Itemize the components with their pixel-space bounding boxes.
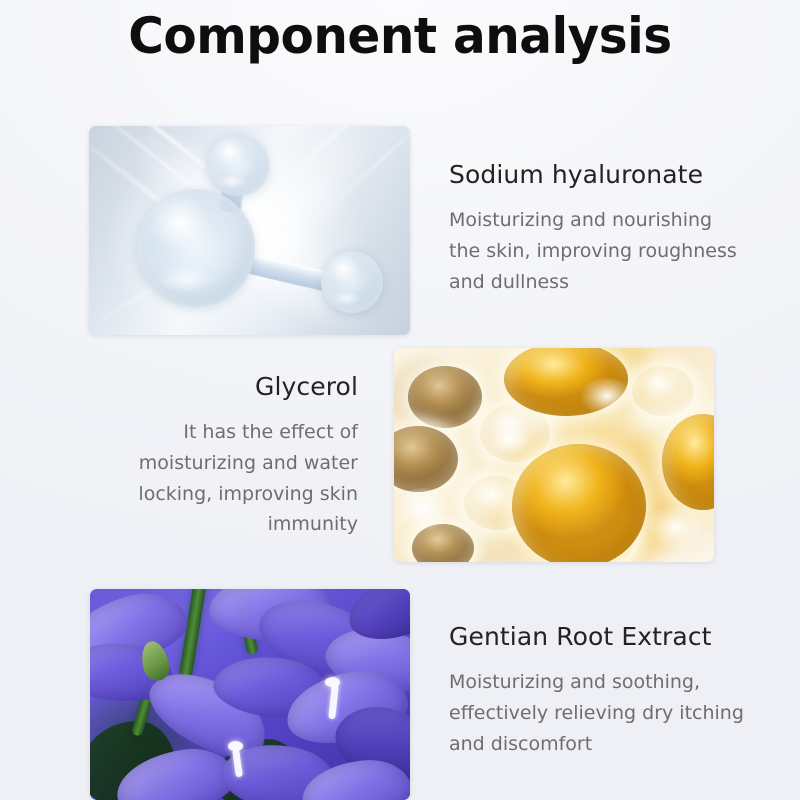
gentian-flowers-photo-canvas [90, 589, 410, 800]
foam-highlight [580, 378, 634, 418]
ingredient-name-glycerol: Glycerol [118, 372, 358, 401]
oil-bubble [632, 366, 694, 416]
ingredient-text-gentian-root-extract: Gentian Root Extract Moisturizing and so… [449, 622, 749, 759]
component-analysis-page: Component analysis Sodium hyaluronate Mo… [0, 0, 800, 800]
ingredient-name-sodium-hyaluronate: Sodium hyaluronate [449, 160, 749, 189]
foam-highlight [490, 426, 530, 456]
oil-droplets-photo-canvas [394, 348, 714, 562]
flower-pistil-head [228, 741, 243, 751]
ingredient-description-gentian-root-extract: Moisturizing and soothing, effectively r… [449, 667, 749, 759]
ingredient-description-glycerol: It has the effect of moisturizing and wa… [118, 417, 358, 540]
ingredient-name-gentian-root-extract: Gentian Root Extract [449, 622, 749, 651]
oil-bubble [408, 366, 482, 428]
oil-bubble-amber-main [512, 444, 646, 562]
golden-oil-droplets-photo [394, 348, 714, 562]
molecule-atom-sphere [321, 251, 383, 313]
molecule-atom-sphere [207, 134, 269, 196]
flower-pistil-head [325, 677, 340, 687]
foam-highlight [646, 506, 706, 552]
oil-bubble-amber [662, 414, 714, 510]
water-molecule-photo [89, 126, 410, 335]
foam-highlight [394, 488, 452, 534]
ingredient-text-glycerol: Glycerol It has the effect of moisturizi… [118, 372, 358, 540]
purple-gentian-flowers-photo [90, 589, 410, 800]
ingredient-text-sodium-hyaluronate: Sodium hyaluronate Moisturizing and nour… [449, 160, 749, 297]
oil-bubble [394, 426, 458, 492]
molecule-atom-sphere [137, 189, 255, 307]
ingredient-description-sodium-hyaluronate: Moisturizing and nourishing the skin, im… [449, 205, 749, 297]
water-molecule-photo-canvas [89, 126, 410, 335]
page-title: Component analysis [12, 8, 788, 66]
